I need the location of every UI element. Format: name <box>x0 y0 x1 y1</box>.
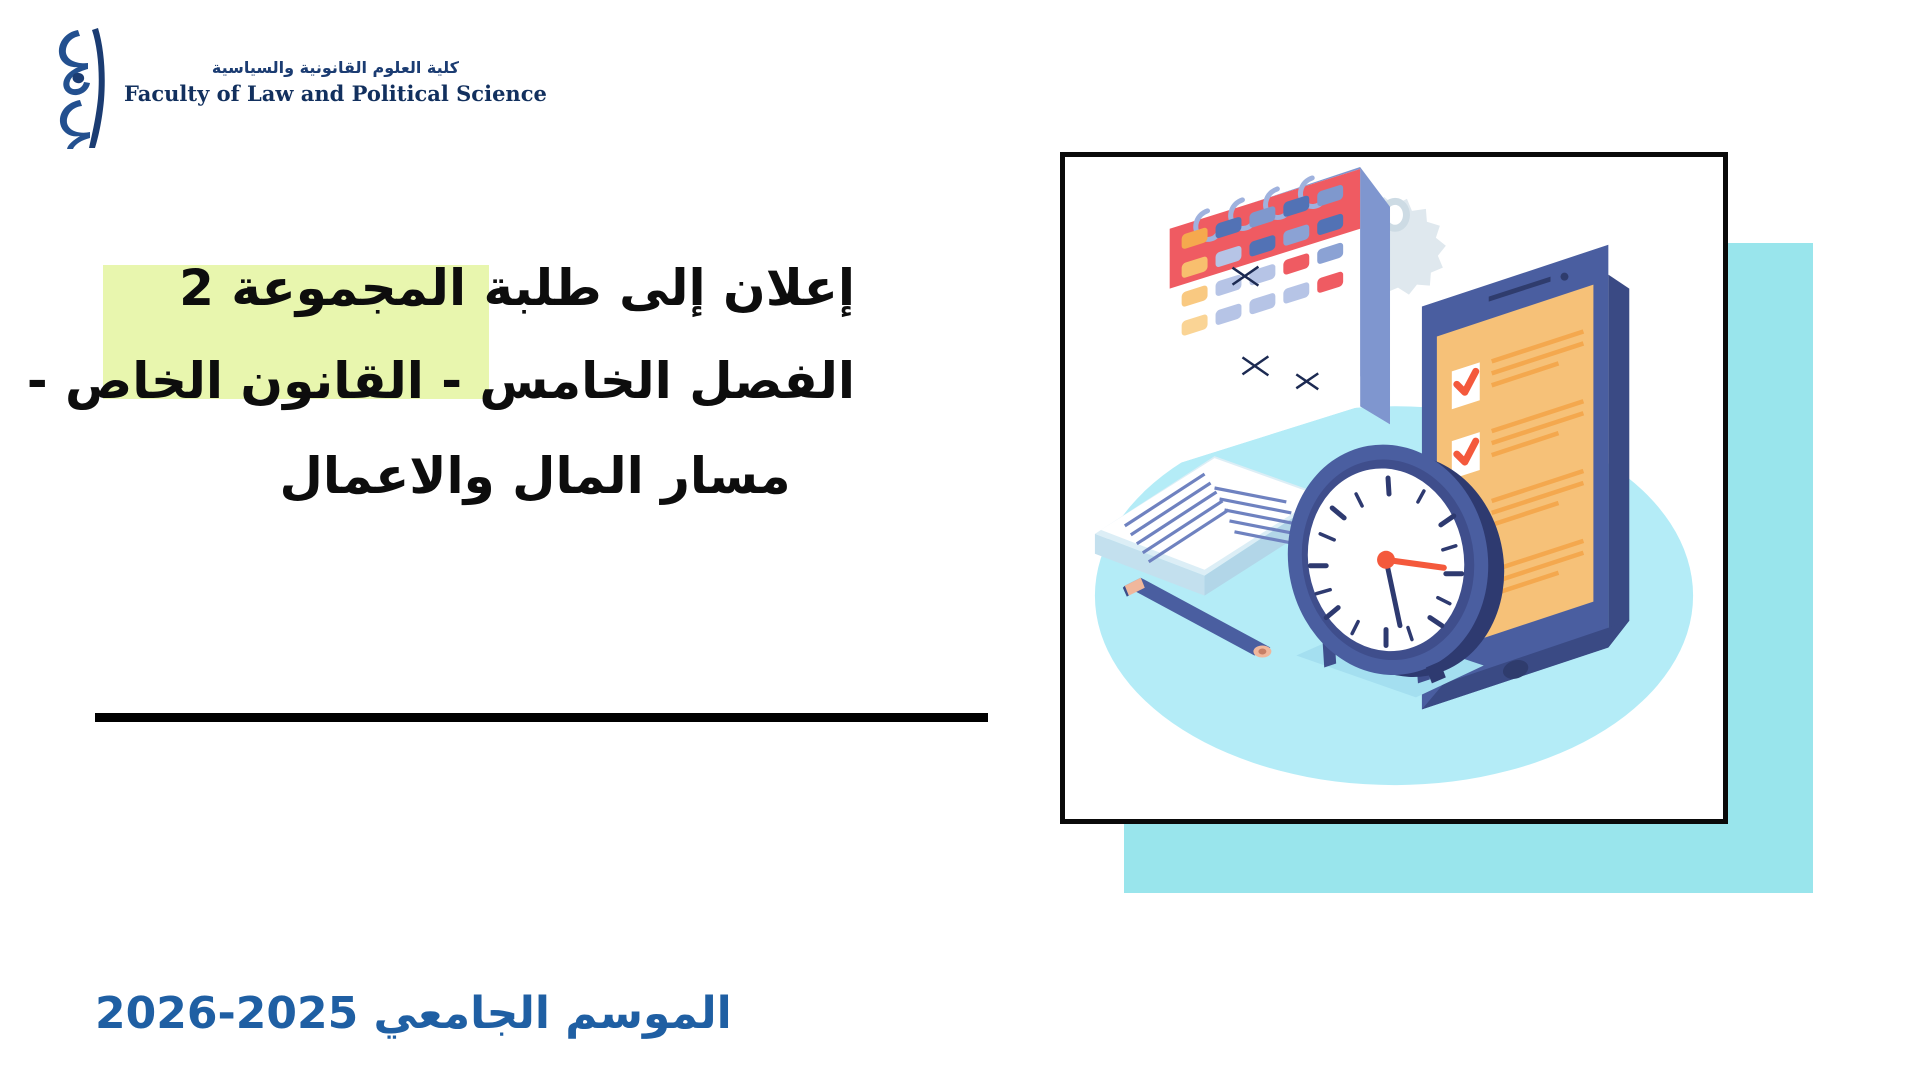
slide-root: كلية العلوم القانونية والسياسية Faculty … <box>0 0 1920 1080</box>
title-line-3: مسار المال والاعمال <box>95 436 855 517</box>
academic-season-text: الموسم الجامعي 2025-2026 <box>95 988 732 1039</box>
title-divider-rule <box>95 713 988 722</box>
title-line-1-text: إعلان إلى طلبة المجموعة 2 <box>179 259 855 317</box>
logo-arabic-name: كلية العلوم القانونية والسياسية <box>124 58 547 78</box>
isometric-time-management-illustration <box>1065 157 1723 819</box>
illustration-frame <box>1060 152 1728 824</box>
logo-english-name: Faculty of Law and Political Science <box>124 81 547 107</box>
title-line-2: الفصل الخامس - القانون الخاص - <box>95 341 855 422</box>
title-line-1: إعلان إلى طلبة المجموعة 2 <box>95 248 855 329</box>
faculty-logo: كلية العلوم القانونية والسياسية Faculty … <box>28 22 448 152</box>
calligraphic-lam-alif-logo-icon <box>28 22 124 150</box>
announcement-title: إعلان إلى طلبة المجموعة 2 الفصل الخامس -… <box>95 248 855 517</box>
logo-text-group: كلية العلوم القانونية والسياسية Faculty … <box>124 58 547 107</box>
